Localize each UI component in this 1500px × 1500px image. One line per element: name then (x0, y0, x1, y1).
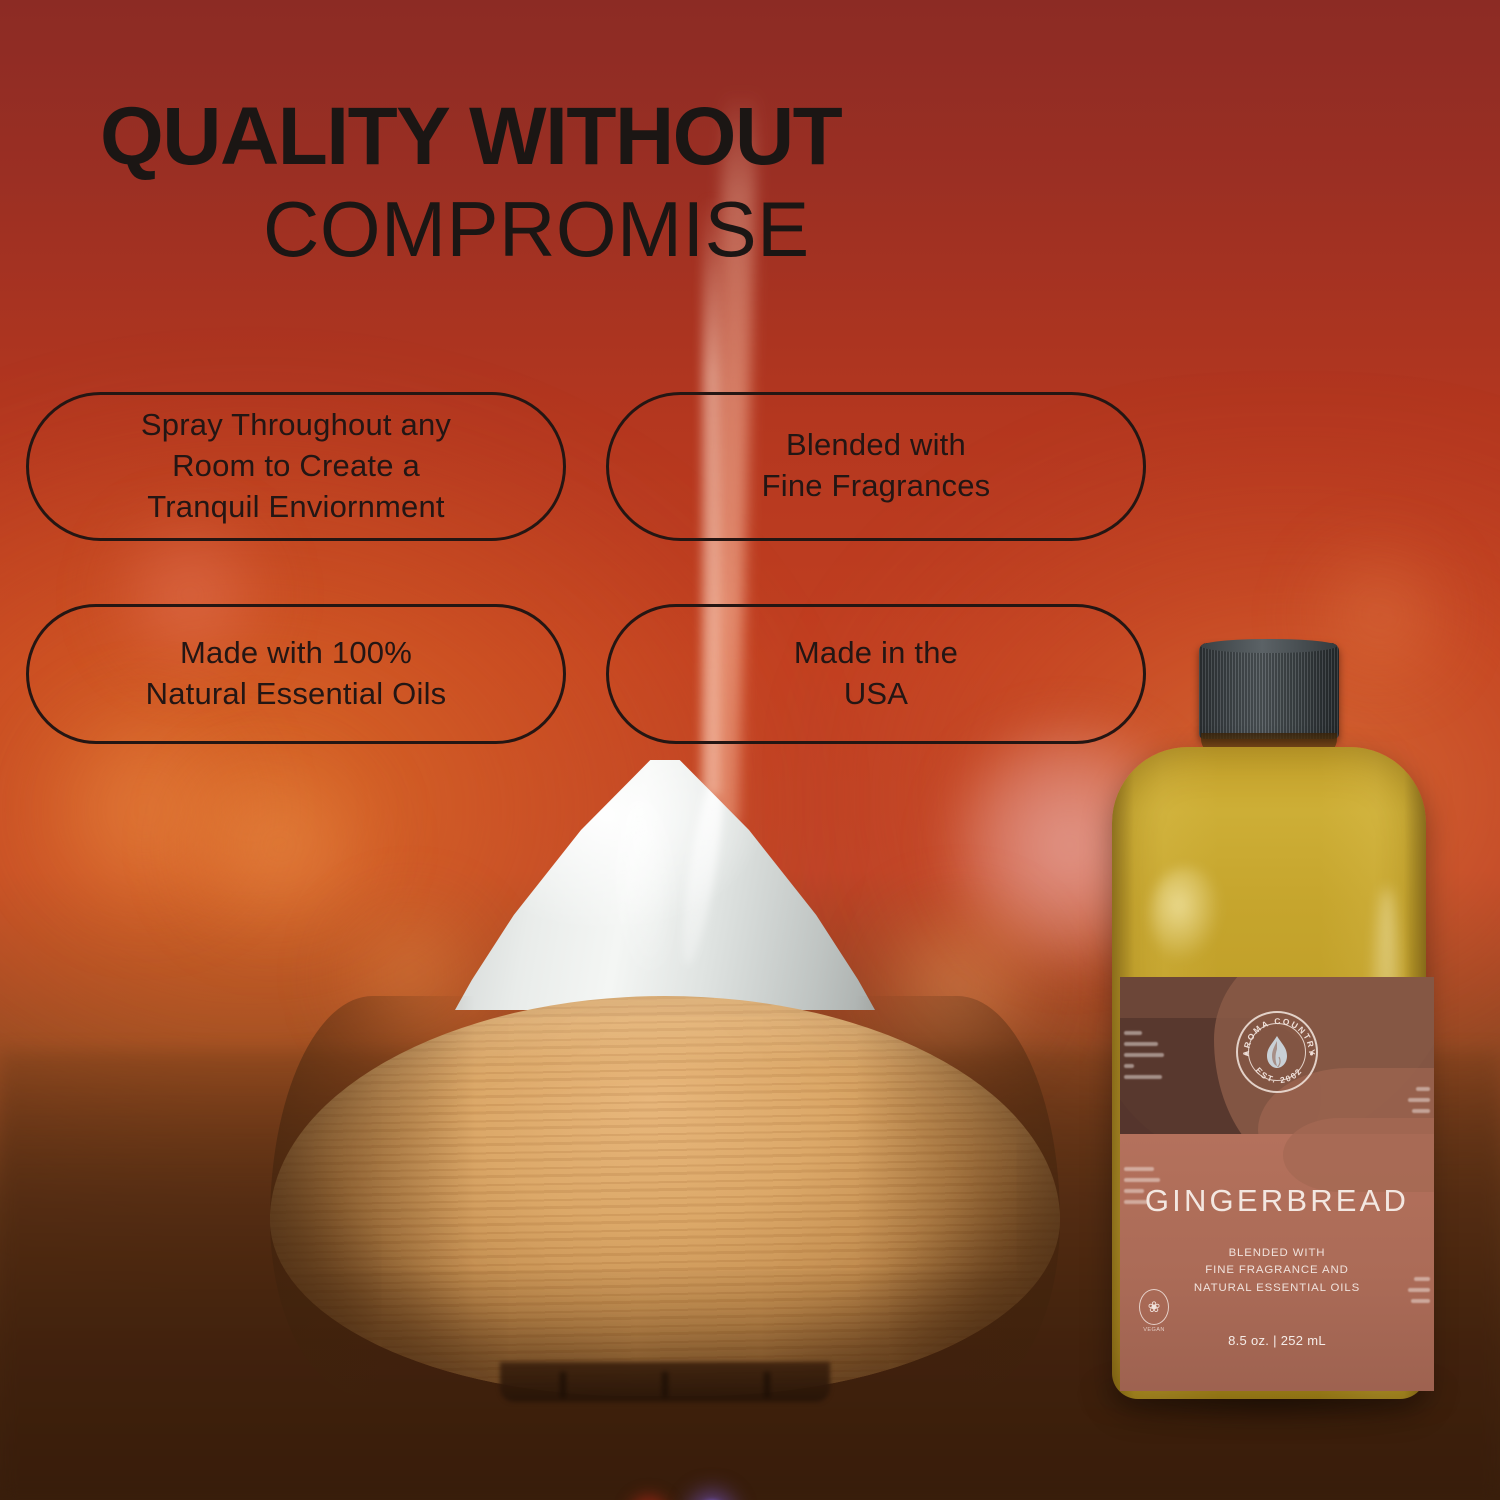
feature-pill-fine-fragrances[interactable]: Blended with Fine Fragrances (606, 392, 1146, 541)
vegan-badge: ❀ VEGAN (1136, 1289, 1172, 1333)
headline-line-2: COMPROMISE (100, 186, 1500, 273)
diffuser-white-cone (455, 760, 875, 1010)
diffuser-product (270, 760, 1060, 1420)
feature-pill-label: Blended with Fine Fragrances (762, 425, 991, 507)
feature-pill-label: Spray Throughout any Room to Create a Tr… (141, 405, 451, 528)
bottle-glass-body: AROMA COUNTRY EST. 2002 (1112, 747, 1426, 1399)
diffuser-vent-notch (560, 1372, 566, 1398)
bottle-cap-top (1201, 639, 1337, 653)
feature-pill-natural-oils[interactable]: Made with 100% Natural Essential Oils (26, 604, 566, 744)
side-text-line (1124, 1053, 1164, 1057)
label-side-text-right (1388, 1087, 1430, 1113)
seal-inner-ring (1248, 1023, 1306, 1081)
page-title: QUALITY WITHOUT COMPROMISE (0, 96, 1500, 273)
side-text-line (1124, 1042, 1158, 1046)
label-lower-wave (1283, 1118, 1434, 1193)
side-text-line (1124, 1167, 1154, 1171)
flame-leaf-icon (1263, 1035, 1291, 1069)
side-text-line (1124, 1075, 1162, 1079)
vegan-badge-label: VEGAN (1143, 1327, 1165, 1333)
label-side-text-left (1124, 1031, 1166, 1079)
diffuser-shadow-left (270, 996, 475, 1396)
feature-pill-label: Made with 100% Natural Essential Oils (146, 633, 447, 715)
product-marketing-image: QUALITY WITHOUT COMPROMISE Spray Through… (0, 0, 1500, 1500)
side-text-line (1412, 1109, 1430, 1113)
diffuser-vent-notch (662, 1372, 668, 1398)
product-name: GINGERBREAD (1120, 1183, 1434, 1219)
feature-pill-spray-room[interactable]: Spray Throughout any Room to Create a Tr… (26, 392, 566, 541)
oil-bottle-product: AROMA COUNTRY EST. 2002 (1104, 643, 1434, 1399)
feature-pill-grid: Spray Throughout any Room to Create a Tr… (26, 392, 1146, 744)
flower-vegan-icon: ❀ (1139, 1289, 1169, 1325)
diffuser-cone-specular-highlight (675, 765, 732, 967)
side-text-line (1124, 1064, 1134, 1068)
brand-seal: AROMA COUNTRY EST. 2002 (1236, 1011, 1318, 1093)
diffuser-vent-notch (764, 1372, 770, 1398)
headline-line-1: QUALITY WITHOUT (100, 96, 1500, 178)
product-volume: 8.5 oz. | 252 mL (1120, 1333, 1434, 1348)
diffuser-wood-base (270, 996, 1060, 1396)
diffuser-foot (500, 1362, 830, 1402)
bottle-label: AROMA COUNTRY EST. 2002 (1120, 977, 1434, 1391)
side-text-line (1408, 1098, 1430, 1102)
vegan-glyph: ❀ (1148, 1300, 1161, 1315)
side-text-line (1416, 1087, 1430, 1091)
side-text-line (1124, 1178, 1160, 1182)
bottle-cap (1199, 643, 1339, 739)
bottle-shoulder-highlight (1150, 867, 1222, 963)
feature-pill-made-in-usa[interactable]: Made in the USA (606, 604, 1146, 744)
feature-pill-label: Made in the USA (794, 633, 958, 715)
diffuser-shadow-right (855, 996, 1060, 1396)
side-text-line (1411, 1299, 1430, 1303)
diffuser-cone-soft-highlight (617, 799, 671, 972)
side-text-line (1124, 1031, 1142, 1035)
